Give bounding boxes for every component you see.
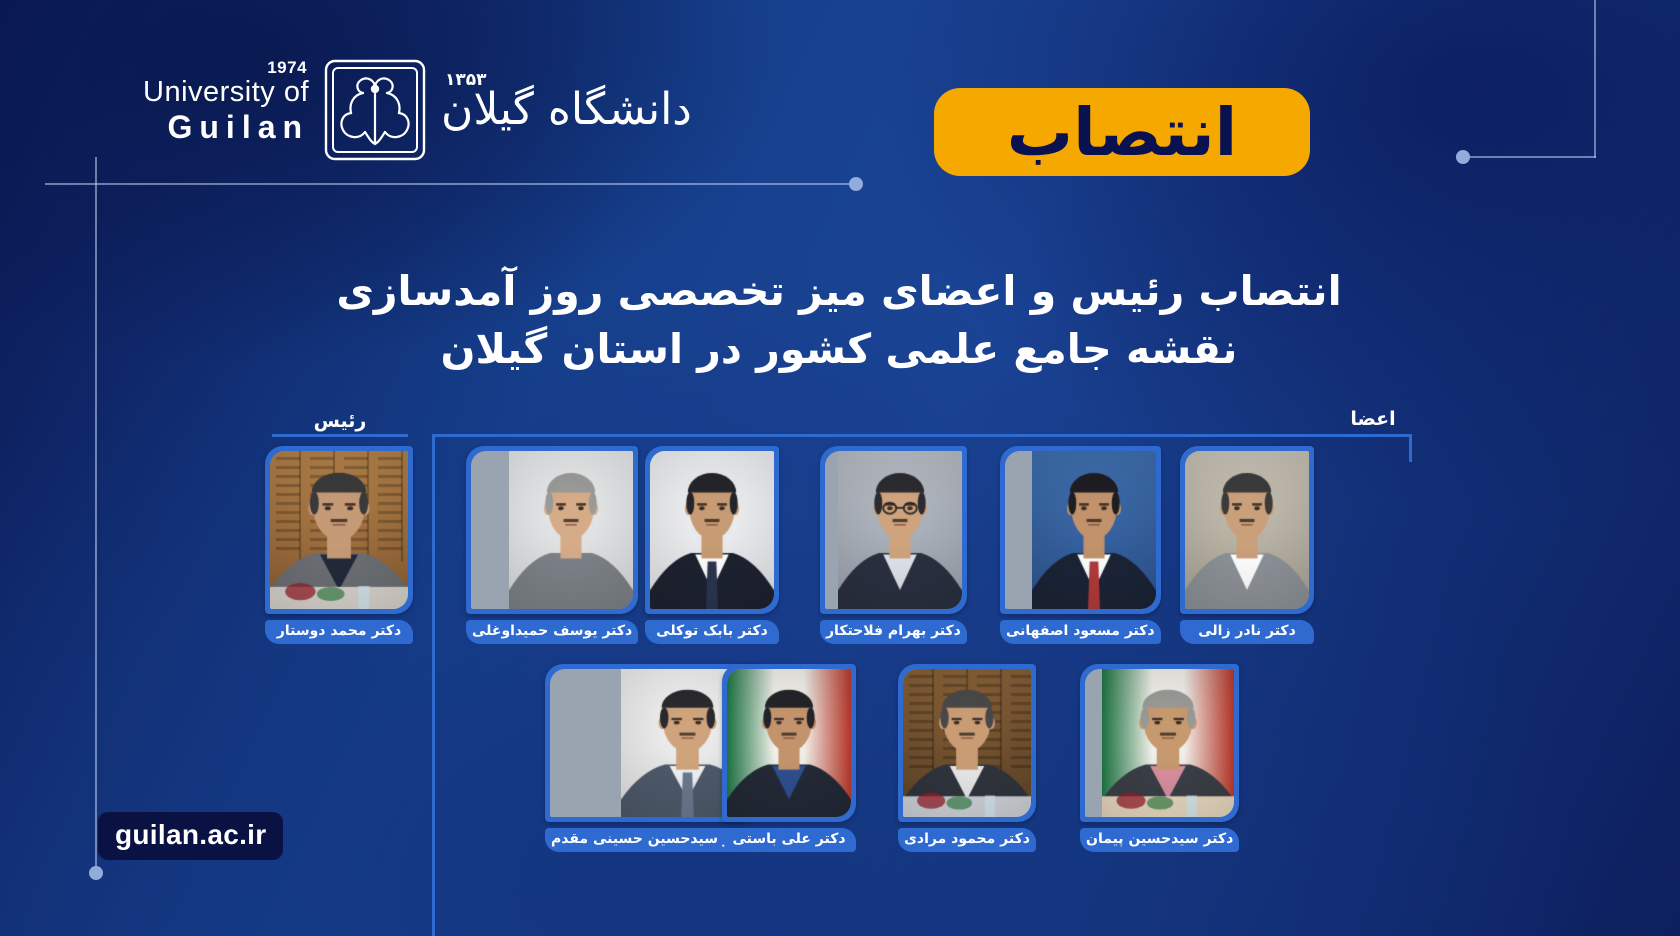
member-card: دکتر محمود مرادی bbox=[898, 664, 1036, 852]
decor-dot-bottom-left bbox=[89, 866, 103, 880]
page-title-line-1: انتصاب رئیس و اعضای میز تخصصی روز آمدساز… bbox=[184, 262, 1494, 320]
member-photo bbox=[1085, 669, 1234, 817]
member-photo-frame bbox=[820, 446, 967, 614]
logo-english-text: 1974 University of Guilan bbox=[143, 78, 309, 143]
member-photo-frame bbox=[1080, 664, 1239, 822]
chair-section-label: رئیس bbox=[305, 410, 375, 432]
member-photo bbox=[1185, 451, 1309, 609]
member-card: دکتر علی باستی bbox=[722, 664, 856, 852]
member-name-caption: دکتر علی باستی bbox=[722, 828, 856, 852]
poster-canvas: 1974 University of Guilan ۱۳۵۳ دانشگاه گ… bbox=[0, 0, 1680, 936]
university-logo: 1974 University of Guilan ۱۳۵۳ دانشگاه گ… bbox=[143, 58, 692, 162]
member-name-caption: دکتر یوسف حمیداوغلی bbox=[466, 620, 638, 644]
logo-year-gregorian: 1974 bbox=[267, 59, 307, 76]
member-photo-frame bbox=[466, 446, 638, 614]
members-section-label: اعضا bbox=[1338, 408, 1408, 430]
member-card: دکتر مسعود اصفهانی bbox=[1000, 446, 1161, 644]
member-photo-frame bbox=[898, 664, 1036, 822]
logo-line-university-of: University of bbox=[143, 78, 309, 107]
member-card: دکتر نادر زالی bbox=[1180, 446, 1314, 644]
member-photo-frame bbox=[645, 446, 779, 614]
decor-dot-left bbox=[849, 177, 863, 191]
guilan-university-emblem-icon bbox=[323, 58, 427, 162]
member-photo bbox=[650, 451, 774, 609]
member-name-caption: دکتر بابک توکلی bbox=[645, 620, 779, 644]
logo-line-guilan: Guilan bbox=[143, 111, 309, 143]
logo-persian-name: دانشگاه گیلان bbox=[441, 88, 692, 132]
appointment-badge: انتصاب bbox=[934, 88, 1310, 176]
website-badge[interactable]: guilan.ac.ir bbox=[98, 812, 283, 860]
member-card: دکتر بهرام فلاحتکار bbox=[820, 446, 967, 644]
member-photo bbox=[825, 451, 962, 609]
connector-members-right-drop bbox=[1409, 434, 1412, 462]
member-photo-frame bbox=[1180, 446, 1314, 614]
logo-year-hijri: ۱۳۵۳ bbox=[445, 72, 487, 89]
member-card: دکتر سیدحسین پیمان bbox=[1080, 664, 1239, 852]
member-name-caption: دکتر محمود مرادی bbox=[898, 828, 1036, 852]
decor-vertical-line-right bbox=[1594, 0, 1596, 158]
chair-photo bbox=[270, 451, 408, 609]
member-photo-frame bbox=[1000, 446, 1161, 614]
connector-members-horizontal bbox=[432, 434, 1412, 437]
chair-card: دکتر محمد دوستار bbox=[265, 446, 413, 644]
member-name-caption: دکتر نادر زالی bbox=[1180, 620, 1314, 644]
member-name-caption: دکتر مسعود اصفهانی bbox=[1000, 620, 1161, 644]
logo-persian-text: ۱۳۵۳ دانشگاه گیلان bbox=[441, 88, 692, 132]
member-photo-frame bbox=[722, 664, 856, 822]
member-name-caption: دکتر سیدحسین پیمان bbox=[1080, 828, 1239, 852]
chair-name-caption: دکتر محمد دوستار bbox=[265, 620, 413, 644]
page-title-line-2: نقشه جامع علمی کشور در استان گیلان bbox=[184, 320, 1494, 378]
member-photo bbox=[903, 669, 1031, 817]
member-photo bbox=[1005, 451, 1156, 609]
decor-dot-right bbox=[1456, 150, 1470, 164]
member-photo bbox=[727, 669, 851, 817]
page-title: انتصاب رئیس و اعضای میز تخصصی روز آمدساز… bbox=[184, 262, 1494, 378]
decor-horizontal-line-right bbox=[1464, 156, 1596, 158]
member-card: دکتر یوسف حمیداوغلی bbox=[466, 446, 638, 644]
decor-vertical-line-left bbox=[95, 157, 97, 873]
connector-chair-underline bbox=[272, 434, 408, 437]
connector-members-left-drop bbox=[432, 434, 435, 936]
member-name-caption: دکتر بهرام فلاحتکار bbox=[820, 620, 967, 644]
member-card: دکتر بابک توکلی bbox=[645, 446, 779, 644]
chair-photo-frame bbox=[265, 446, 413, 614]
member-photo bbox=[471, 451, 633, 609]
decor-horizontal-line-left bbox=[45, 183, 857, 185]
